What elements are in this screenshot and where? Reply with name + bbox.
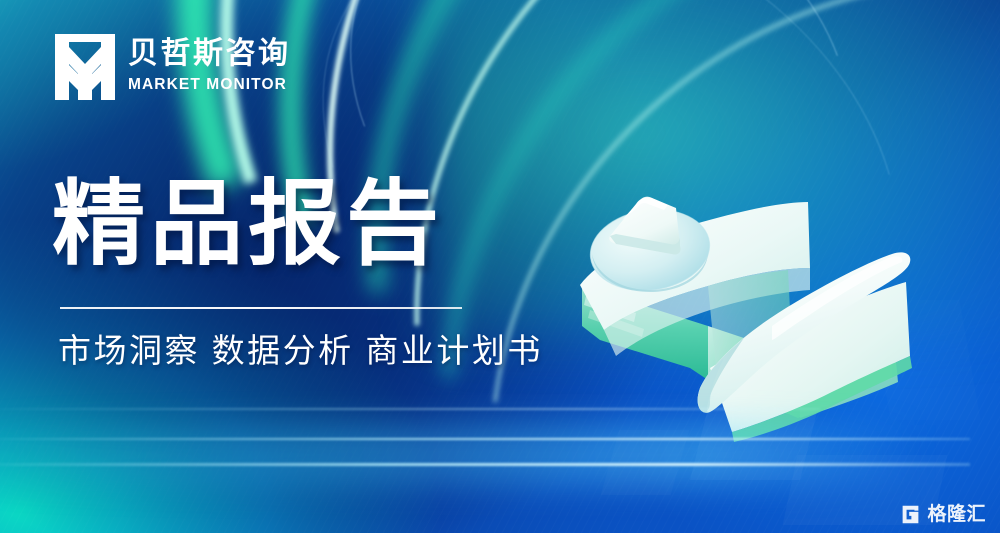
report-banner: 贝哲斯咨询 MARKET MONITOR 精品报告 市场洞察 数据分析 商业计划…	[0, 0, 1000, 533]
gelonghui-g-icon	[900, 504, 921, 525]
page-subtitle: 市场洞察 数据分析 商业计划书	[58, 330, 543, 371]
watermark: 格隆汇	[900, 504, 986, 525]
company-name-en: MARKET MONITOR	[128, 73, 291, 96]
company-name-cn: 贝哲斯咨询	[128, 38, 291, 70]
watermark-label: 格隆汇	[927, 505, 986, 524]
open-book-illustration	[540, 150, 940, 440]
page-title: 精品报告	[52, 178, 444, 271]
title-divider	[60, 307, 462, 309]
market-monitor-m-icon	[55, 34, 115, 100]
logo-text-group: 贝哲斯咨询 MARKET MONITOR	[128, 38, 291, 97]
brand-logo: 贝哲斯咨询 MARKET MONITOR	[55, 34, 291, 100]
